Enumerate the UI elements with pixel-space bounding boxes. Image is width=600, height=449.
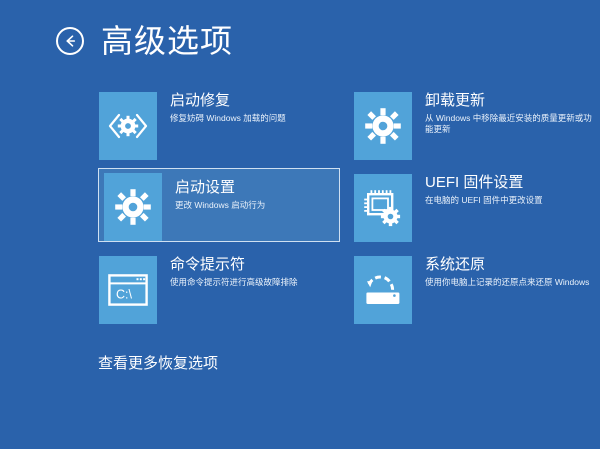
option-tile-startup-settings[interactable]: 启动设置 更改 Windows 启动行为 bbox=[98, 168, 340, 242]
option-tile-command-prompt[interactable]: C:\ 命令提示符 使用命令提示符进行高级故障排除 bbox=[98, 250, 340, 324]
advanced-options-screen: 高级选项 bbox=[0, 0, 600, 449]
option-text: 启动修复 修复妨碍 Windows 加载的问题 bbox=[157, 87, 286, 124]
options-column-right: 卸载更新 从 Windows 中移除最近安装的质量更新或功能更新 bbox=[353, 86, 595, 332]
options-column-left: 启动修复 修复妨碍 Windows 加载的问题 bbox=[98, 86, 340, 332]
startup-repair-icon bbox=[99, 92, 157, 160]
option-tile-uninstall-updates[interactable]: 卸载更新 从 Windows 中移除最近安装的质量更新或功能更新 bbox=[353, 86, 595, 160]
see-more-recovery-options-link[interactable]: 查看更多恢复选项 bbox=[98, 352, 218, 373]
uefi-chip-icon bbox=[354, 174, 412, 242]
gear-icon bbox=[104, 173, 162, 241]
option-text: 命令提示符 使用命令提示符进行高级故障排除 bbox=[157, 251, 298, 288]
option-subtitle: 更改 Windows 启动行为 bbox=[175, 200, 265, 211]
option-text: 系统还原 使用你电脑上记录的还原点来还原 Windows bbox=[412, 251, 589, 288]
gear-icon bbox=[354, 92, 412, 160]
page-header: 高级选项 bbox=[56, 25, 233, 57]
option-subtitle: 使用你电脑上记录的还原点来还原 Windows bbox=[425, 277, 589, 288]
option-title: 命令提示符 bbox=[170, 255, 298, 274]
option-subtitle: 修复妨碍 Windows 加载的问题 bbox=[170, 113, 286, 124]
option-title: 卸载更新 bbox=[425, 91, 594, 110]
command-prompt-icon: C:\ bbox=[99, 256, 157, 324]
option-title: 系统还原 bbox=[425, 255, 589, 274]
svg-text:C:\: C:\ bbox=[116, 288, 133, 302]
option-subtitle: 在电脑的 UEFI 固件中更改设置 bbox=[425, 195, 543, 206]
option-tile-startup-repair[interactable]: 启动修复 修复妨碍 Windows 加载的问题 bbox=[98, 86, 340, 160]
system-restore-drive-icon bbox=[354, 256, 412, 324]
option-text: UEFI 固件设置 在电脑的 UEFI 固件中更改设置 bbox=[412, 169, 543, 206]
option-subtitle: 使用命令提示符进行高级故障排除 bbox=[170, 277, 298, 288]
option-text: 启动设置 更改 Windows 启动行为 bbox=[162, 169, 265, 211]
option-subtitle: 从 Windows 中移除最近安装的质量更新或功能更新 bbox=[425, 113, 594, 135]
option-title: 启动修复 bbox=[170, 91, 286, 110]
page-title: 高级选项 bbox=[101, 25, 233, 57]
option-tile-uefi-firmware-settings[interactable]: UEFI 固件设置 在电脑的 UEFI 固件中更改设置 bbox=[353, 168, 595, 242]
option-tile-system-restore[interactable]: 系统还原 使用你电脑上记录的还原点来还原 Windows bbox=[353, 250, 595, 324]
option-title: 启动设置 bbox=[175, 178, 265, 197]
back-arrow-circle-icon[interactable] bbox=[56, 27, 84, 55]
option-text: 卸载更新 从 Windows 中移除最近安装的质量更新或功能更新 bbox=[412, 87, 594, 135]
option-title: UEFI 固件设置 bbox=[425, 173, 543, 192]
